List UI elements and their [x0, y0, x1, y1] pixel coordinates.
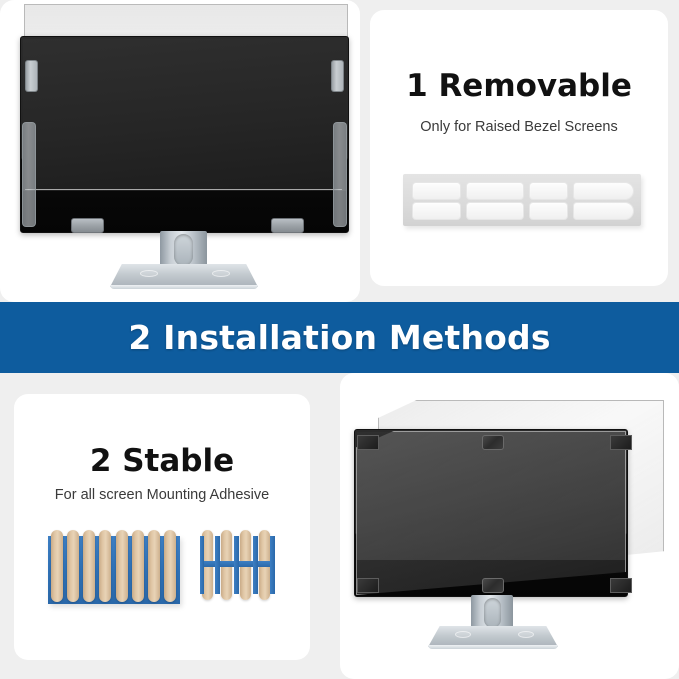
clip-top-right-icon	[331, 60, 344, 92]
adhesive-strip	[164, 530, 176, 602]
adhesive-strip	[132, 530, 144, 602]
clip-side-right-icon	[333, 122, 347, 227]
strip-slot-2	[466, 182, 524, 200]
adhesive-vertical-band	[270, 536, 275, 594]
adhesive-tab-top-center-icon	[482, 435, 504, 450]
privacy-panel-edge-line	[356, 431, 626, 595]
clip-bottom-right-icon	[271, 218, 304, 233]
monitor-stand-cable-hole	[484, 598, 501, 628]
clip-bottom-left-icon	[71, 218, 104, 233]
panel-stable-illustration	[340, 373, 679, 679]
monitor-stand-base-lip	[428, 645, 558, 649]
adhesive-group-short	[200, 530, 276, 604]
strip-slot-long-2	[573, 202, 634, 220]
card-stable-subtitle: For all screen Mounting Adhesive	[14, 487, 310, 503]
clip-side-left-icon	[22, 122, 36, 227]
card-removable	[370, 10, 668, 286]
adhesive-vertical-band	[200, 536, 204, 594]
monitor-privacy-screen-clip-mount	[0, 0, 360, 302]
base-dimple-right-icon	[518, 631, 534, 638]
adhesive-vertical-band	[234, 536, 239, 594]
card-removable-title: 1 Removable	[370, 68, 668, 104]
adhesive-strip	[67, 530, 79, 602]
monitor-stand-base-lip	[110, 285, 258, 289]
strip-slot-4	[412, 202, 461, 220]
panel-removable-illustration	[0, 0, 360, 302]
privacy-panel-bottom-edge	[25, 189, 342, 190]
clip-top-left-icon	[25, 60, 38, 92]
adhesive-tab-top-right-icon	[610, 435, 632, 450]
adhesive-vertical-band	[215, 536, 220, 594]
monitor-stand-base	[110, 264, 258, 287]
card-stable	[14, 394, 310, 660]
strip-slot-6	[529, 202, 568, 220]
adhesive-tab-top-left-icon	[357, 435, 379, 450]
strip-slot-1	[412, 182, 461, 200]
installation-methods-banner: 2 Installation Methods	[0, 302, 679, 373]
base-dimple-left-icon	[455, 631, 471, 638]
strip-slot-long-1	[573, 182, 634, 200]
adhesive-strip	[51, 530, 63, 602]
base-dimple-right-icon	[212, 270, 230, 277]
adhesive-tab-bottom-right-icon	[610, 578, 632, 593]
adhesive-strip	[148, 530, 160, 602]
adhesive-strip	[83, 530, 95, 602]
adhesive-strip	[99, 530, 111, 602]
banner-title: 2 Installation Methods	[128, 318, 550, 357]
adhesive-tab-bottom-left-icon	[357, 578, 379, 593]
card-removable-subtitle: Only for Raised Bezel Screens	[370, 119, 668, 135]
bezel-mount-strip	[403, 174, 641, 226]
base-dimple-left-icon	[140, 270, 158, 277]
adhesive-tab-bottom-center-icon	[482, 578, 504, 593]
adhesive-group-long	[48, 530, 180, 606]
monitor-stand-base	[428, 626, 558, 647]
strip-slot-3	[529, 182, 568, 200]
monitor-privacy-screen-adhesive-mount	[340, 373, 679, 679]
strip-slot-5	[466, 202, 524, 220]
monitor-screen	[23, 39, 346, 191]
adhesive-strip	[116, 530, 128, 602]
infographic-stage: 1 Removable Only for Raised Bezel Screen…	[0, 0, 679, 679]
monitor-bezel	[20, 36, 349, 233]
monitor-stand-cable-hole	[174, 234, 193, 266]
adhesive-vertical-band	[253, 536, 258, 594]
card-stable-title: 2 Stable	[14, 443, 310, 479]
